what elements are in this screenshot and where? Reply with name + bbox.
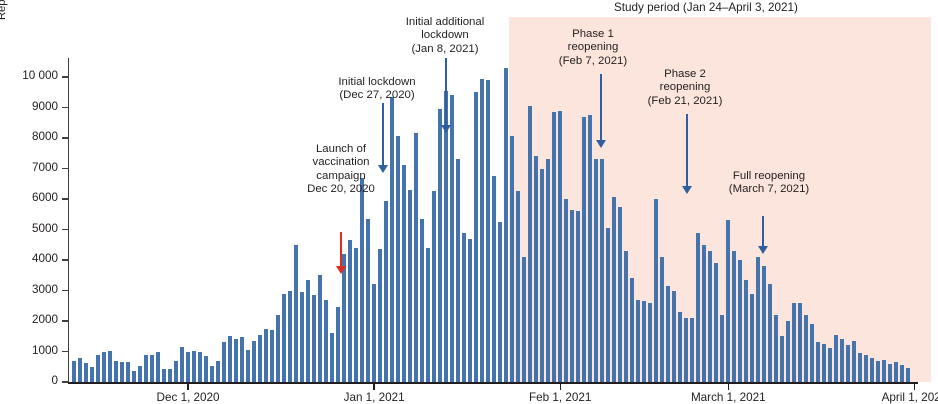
arrow-shaft — [600, 74, 601, 140]
bar — [552, 112, 556, 382]
bar — [642, 301, 646, 382]
bar — [216, 361, 220, 382]
y-axis-tick-label: 8000 — [0, 131, 58, 143]
bar — [774, 315, 778, 382]
bar — [762, 266, 766, 382]
bar — [582, 117, 586, 382]
x-axis-tick — [560, 383, 561, 390]
bar — [900, 365, 904, 382]
bar — [894, 362, 898, 382]
bar — [606, 228, 610, 382]
arrow-shaft — [382, 103, 383, 165]
bar — [168, 369, 172, 382]
y-axis-tick-label: 4000 — [0, 253, 58, 265]
study-period-label: Study period (Jan 24–April 3, 2021) — [614, 1, 798, 14]
y-axis-tick-label: 6000 — [0, 192, 58, 204]
bar — [84, 363, 88, 382]
bar — [108, 351, 112, 382]
bar — [546, 159, 550, 382]
annotation-label-launch-of-vaccination-campaign: Launch of vaccination campaign Dec 20, 2… — [293, 143, 389, 196]
x-axis-tick — [187, 383, 188, 390]
bar — [486, 80, 490, 382]
bar — [870, 358, 874, 382]
bar — [648, 303, 652, 382]
annotation-label-full-reopening: Full reopening (March 7, 2021) — [714, 170, 824, 197]
bar — [480, 79, 484, 382]
bar — [564, 199, 568, 382]
bar — [270, 330, 274, 382]
bar — [684, 318, 688, 382]
plot-area — [68, 17, 918, 382]
bar — [456, 159, 460, 382]
bar — [180, 347, 184, 382]
bar — [198, 352, 202, 383]
annotation-arrow-full-reopening — [757, 216, 769, 255]
bar — [528, 106, 532, 382]
bar — [678, 312, 682, 382]
bar — [732, 251, 736, 382]
arrow-head-icon — [682, 186, 692, 194]
y-axis-tick-label: 7000 — [0, 162, 58, 174]
bar — [618, 207, 622, 382]
bar — [78, 358, 82, 382]
y-axis-tick-label: 10 000 — [0, 70, 58, 82]
bar — [810, 324, 814, 382]
bar — [102, 352, 106, 383]
y-axis-tick-label-text: 8000 — [32, 131, 58, 143]
bar — [204, 356, 208, 382]
bar — [366, 219, 370, 382]
bar — [882, 360, 886, 382]
y-axis-tick-label: 5000 — [0, 223, 58, 235]
bar — [396, 136, 400, 382]
bar — [666, 286, 670, 382]
y-axis-tick-label-text: 3000 — [32, 284, 58, 296]
annotation-label-initial-additional-lockdown: Initial additional lockdown (Jan 8, 2021… — [387, 16, 503, 56]
bar — [252, 341, 256, 382]
bar — [276, 315, 280, 382]
annotation-arrow-phase-2-reopening — [681, 114, 693, 195]
bar — [438, 109, 442, 382]
bar — [150, 355, 154, 382]
arrow-head-icon — [441, 125, 451, 133]
bar — [450, 95, 454, 382]
arrow-shaft — [686, 114, 687, 186]
arrow-shaft — [340, 232, 341, 266]
x-axis-tick-label: Feb 1, 2021 — [529, 391, 591, 404]
y-axis-tick-label: 2000 — [0, 314, 58, 326]
y-axis-tick-label: 1000 — [0, 345, 58, 357]
bar — [264, 329, 268, 382]
bar — [756, 257, 760, 382]
bar — [114, 361, 118, 382]
x-axis-tick — [728, 383, 729, 390]
bar — [318, 275, 322, 382]
bar — [840, 339, 844, 382]
x-axis-tick — [373, 383, 374, 390]
bar — [726, 220, 730, 382]
annotation-label-phase-1-reopening: Phase 1 reopening (Feb 7, 2021) — [546, 28, 640, 68]
y-axis-tick-label: 0 — [0, 375, 58, 387]
bar — [360, 178, 364, 382]
bar — [744, 280, 748, 382]
bar — [576, 211, 580, 382]
bar — [306, 280, 310, 382]
bar — [876, 361, 880, 382]
bar — [492, 176, 496, 382]
bar — [144, 355, 148, 382]
bar — [846, 345, 850, 382]
bar — [798, 303, 802, 382]
bar — [780, 336, 784, 382]
annotation-label-phase-2-reopening: Phase 2 reopening (Feb 21, 2021) — [633, 68, 737, 108]
bar — [630, 278, 634, 382]
bar — [474, 92, 478, 382]
y-axis-tick-label-text: 7000 — [32, 162, 58, 174]
annotation-arrow-initial-lockdown — [377, 103, 389, 174]
bar — [612, 197, 616, 382]
bar — [258, 335, 262, 382]
bar — [408, 190, 412, 382]
bar — [414, 133, 418, 382]
y-axis-tick-label-text: 9000 — [32, 101, 58, 113]
bar — [792, 303, 796, 382]
bar — [96, 355, 100, 382]
bar — [624, 251, 628, 382]
bar — [432, 191, 436, 382]
bar — [570, 210, 574, 382]
bar — [660, 257, 664, 382]
arrow-head-icon — [336, 266, 346, 274]
y-axis-tick-label: 3000 — [0, 284, 58, 296]
bar — [822, 344, 826, 382]
bar — [804, 315, 808, 382]
bar — [174, 361, 178, 382]
bar — [402, 165, 406, 382]
bar — [858, 353, 862, 382]
bar — [426, 248, 430, 382]
y-axis-tick-label-text: 10 000 — [22, 70, 58, 82]
bar — [132, 371, 136, 382]
bar — [72, 361, 76, 382]
bar — [126, 362, 130, 382]
bar — [888, 364, 892, 382]
x-axis-spine — [68, 382, 918, 384]
bar — [156, 352, 160, 383]
bar — [330, 333, 334, 382]
bar — [228, 336, 232, 382]
bar — [192, 351, 196, 382]
annotation-arrow-phase-1-reopening — [595, 74, 607, 149]
bar — [714, 263, 718, 382]
bar — [558, 111, 562, 382]
bar — [540, 169, 544, 383]
bar — [300, 292, 304, 382]
x-axis-tick-label: March 1, 2021 — [691, 391, 766, 404]
bar — [354, 248, 358, 382]
bar — [864, 355, 868, 382]
bar — [498, 222, 502, 382]
bar — [708, 251, 712, 382]
bar — [522, 257, 526, 382]
bar — [534, 156, 538, 382]
bar — [768, 284, 772, 382]
bar — [138, 366, 142, 382]
bar — [324, 300, 328, 382]
bar — [420, 219, 424, 382]
bar — [378, 249, 382, 382]
bar — [372, 284, 376, 382]
bar — [834, 335, 838, 382]
bar — [234, 339, 238, 382]
bar — [90, 367, 94, 382]
bar — [786, 321, 790, 382]
bar — [444, 91, 448, 382]
bar — [390, 97, 394, 382]
bar — [672, 291, 676, 383]
bar — [594, 159, 598, 382]
bar — [504, 68, 508, 382]
bar — [750, 294, 754, 382]
bar — [720, 315, 724, 382]
bar — [222, 342, 226, 382]
y-axis-tick-label-text: 2000 — [32, 314, 58, 326]
bar — [282, 294, 286, 382]
bar — [702, 245, 706, 382]
bar — [588, 115, 592, 382]
infections-bar-chart-figure: Reported laboratory-confirmed SARS-CoV-2… — [0, 0, 938, 403]
bar — [510, 136, 514, 382]
bar — [828, 348, 832, 382]
y-axis-label-text: Reported laboratory-confirmed SARS-CoV-2… — [0, 0, 8, 20]
arrow-shaft — [762, 216, 763, 246]
bar — [600, 159, 604, 382]
y-axis-tick-label-text: 0 — [51, 375, 58, 387]
bar — [240, 337, 244, 382]
bar — [516, 191, 520, 382]
arrow-shaft — [445, 58, 446, 125]
bar — [384, 201, 388, 382]
bar — [696, 233, 700, 382]
y-axis-tick-label-text: 1000 — [32, 345, 58, 357]
arrow-head-icon — [378, 165, 388, 173]
bar — [468, 239, 472, 382]
x-axis-tick-label: April 1, 2021 — [882, 391, 938, 404]
bar — [738, 260, 742, 382]
bar — [348, 240, 352, 382]
y-axis-tick-label-text: 5000 — [32, 223, 58, 235]
y-axis-label: Reported laboratory-confirmed SARS-CoV-2… — [0, 0, 14, 36]
bar — [462, 233, 466, 382]
bar — [312, 295, 316, 382]
bar — [294, 245, 298, 382]
bar — [120, 362, 124, 382]
arrow-head-icon — [758, 246, 768, 254]
x-axis-tick — [914, 383, 915, 390]
bar — [852, 341, 856, 382]
bar — [210, 366, 214, 382]
bar — [246, 350, 250, 382]
bar — [186, 352, 190, 383]
bar — [636, 300, 640, 382]
bar — [906, 368, 910, 382]
bar — [816, 342, 820, 382]
annotation-label-initial-lockdown: Initial lockdown (Dec 27, 2020) — [319, 76, 435, 103]
y-axis-tick-label: 9000 — [0, 101, 58, 113]
bar — [336, 307, 340, 382]
annotation-arrow-launch-of-vaccination-campaign — [335, 232, 347, 275]
y-axis-tick-label-text: 4000 — [32, 253, 58, 265]
bar — [654, 199, 658, 382]
bar — [162, 369, 166, 382]
bar — [690, 318, 694, 382]
bar — [288, 291, 292, 383]
x-axis-tick-label: Dec 1, 2020 — [157, 391, 220, 404]
y-axis-tick-label-text: 6000 — [32, 192, 58, 204]
arrow-head-icon — [596, 140, 606, 148]
annotation-arrow-initial-additional-lockdown — [440, 58, 452, 134]
x-axis-tick-label: Jan 1, 2021 — [344, 391, 405, 404]
